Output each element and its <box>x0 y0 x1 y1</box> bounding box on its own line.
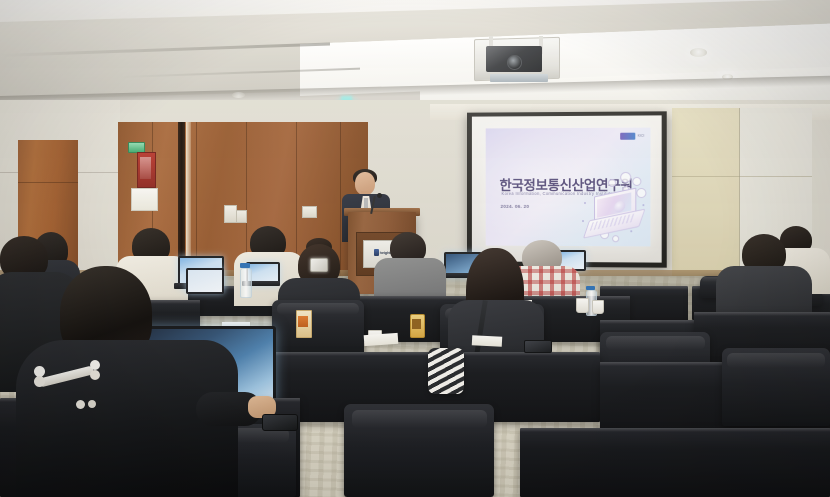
shirt-graphic-dot-icon <box>88 400 96 408</box>
beverage-can-label <box>412 319 421 329</box>
shirt-graphic-knob-icon <box>34 376 45 387</box>
presentation-slide: KICI 한국정보통신산업연구원 Korea Information, Comm… <box>486 128 651 247</box>
wall-notice <box>131 188 158 211</box>
slide-dot-icon <box>588 188 590 190</box>
laptop-screen <box>186 268 224 294</box>
slide-logo: KICI <box>621 133 645 140</box>
wall-seam <box>18 182 78 183</box>
slide-bubble-icon <box>612 235 619 242</box>
projector-lens-icon <box>507 55 522 70</box>
slide-bubble-icon <box>636 188 646 198</box>
projector-base-plate <box>490 74 548 82</box>
slide-date: 2024. 06. 20 <box>500 204 529 209</box>
slide-dot-icon <box>630 230 632 232</box>
wall-seam <box>739 108 740 283</box>
shirt-graphic-knob-icon <box>90 360 100 370</box>
chair <box>344 404 494 497</box>
paper-cup <box>592 300 604 314</box>
slide-logo-mark-icon <box>621 133 636 140</box>
smartphone[interactable] <box>524 340 552 353</box>
table-row <box>520 428 830 497</box>
snack-box-label <box>298 316 308 327</box>
handout-paper <box>472 335 502 347</box>
bottle-cap <box>586 286 595 290</box>
wall-seam <box>340 122 341 282</box>
bottle-cap <box>240 263 250 268</box>
podium-logo-text: height <box>380 250 391 255</box>
wall-outlet <box>302 206 317 218</box>
seminar-room-photo: KICI 한국정보통신산업연구원 Korea Information, Comm… <box>0 0 830 497</box>
slide-laptop-illustration-icon <box>574 168 646 243</box>
shirt-graphic-dot-icon <box>76 400 85 409</box>
slide-logo-text: KICI <box>638 134 645 138</box>
slide-dot-icon <box>584 202 586 204</box>
slide-dot-icon <box>582 220 584 222</box>
striped-bag <box>428 348 464 394</box>
slide-dot-icon <box>642 204 644 206</box>
microphone-head-icon <box>377 193 382 198</box>
water-bottle <box>240 268 252 298</box>
paper-cup <box>576 298 589 313</box>
wall-switch[interactable] <box>236 210 247 223</box>
smartphone[interactable] <box>262 414 298 431</box>
wall-seam <box>672 176 812 177</box>
handout-paper <box>364 333 399 346</box>
podium-logo-mark-icon <box>374 249 379 256</box>
slide-bubble-icon <box>632 177 641 186</box>
slide-bubble-icon <box>620 172 631 183</box>
hair-clip-icon <box>310 258 328 272</box>
slide-bubble-icon <box>608 179 616 187</box>
chair <box>272 300 364 358</box>
ceiling-downlight <box>690 48 707 57</box>
fire-cabinet-glass <box>140 157 151 179</box>
chair <box>722 348 830 426</box>
shirt-graphic-knob-icon <box>90 370 100 380</box>
